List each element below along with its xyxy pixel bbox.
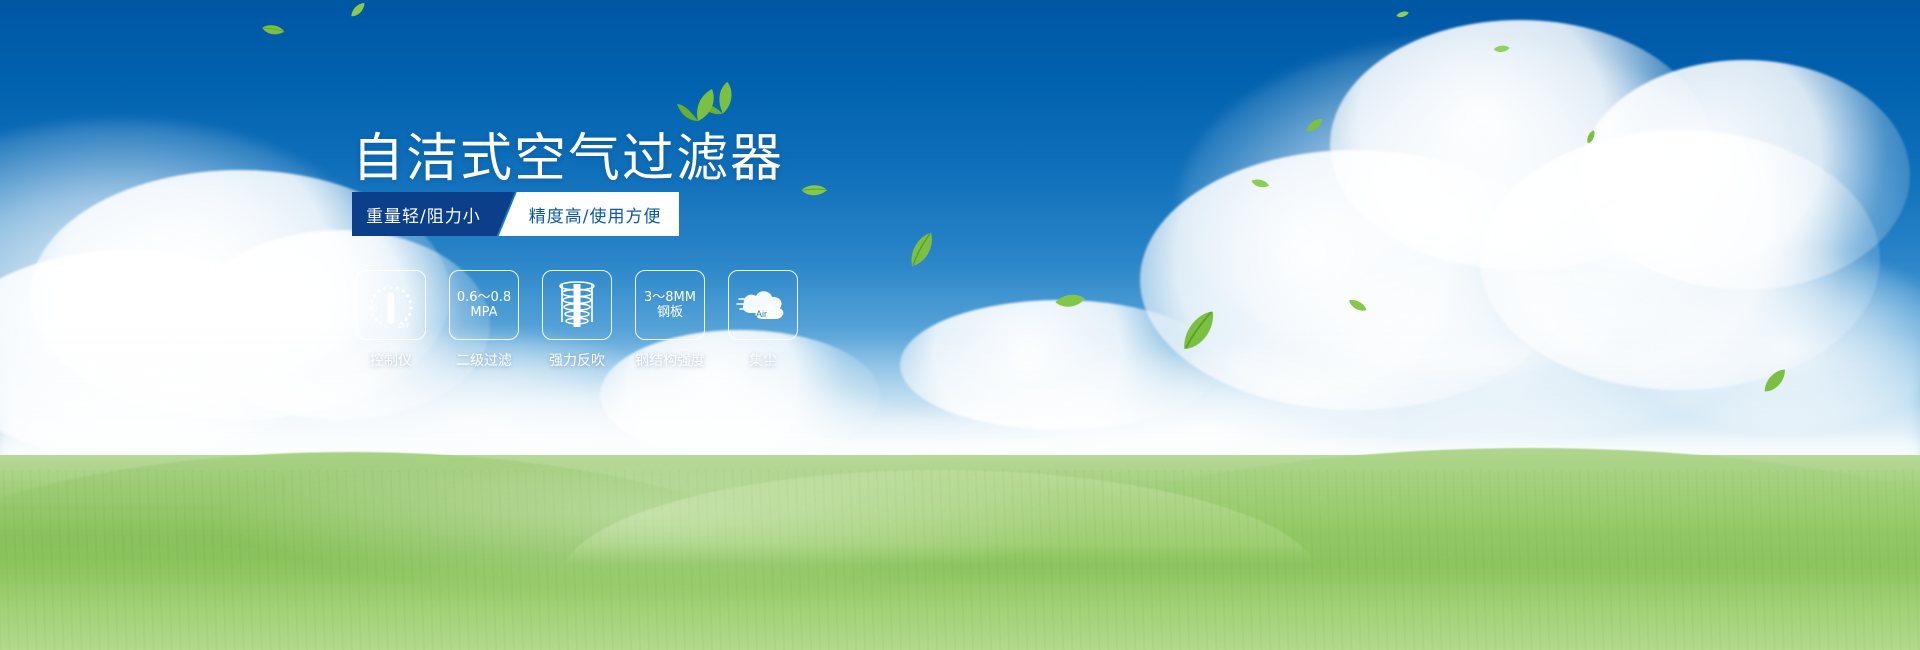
steel-line-1: 3～8MM xyxy=(644,290,696,305)
filter-cartridge-icon xyxy=(552,279,602,331)
tagline-row: 重量轻/阻力小 精度高/使用方便 xyxy=(352,192,679,236)
cloud-right-1 xyxy=(1180,40,1740,370)
feature-item[interactable]: 3～8MM 钢板 钢结构强度 xyxy=(635,270,705,370)
cloud-right-2 xyxy=(1330,20,1710,270)
leaf-icon xyxy=(1347,294,1368,317)
feature-label: 强力反吹 xyxy=(549,350,605,370)
air-label: Air xyxy=(756,309,767,319)
product-banner: 自洁式空气过滤器 重量轻/阻力小 精度高/使用方便 xyxy=(0,0,1920,650)
page-title: 自洁式空气过滤器 xyxy=(352,116,784,191)
feature-item[interactable]: 强力反吹 xyxy=(542,270,612,370)
feature-label: 集尘 xyxy=(749,350,777,370)
feature-label: 控制仪 xyxy=(370,350,412,370)
steel-line-2: 钢板 xyxy=(644,305,696,320)
leaf-icon xyxy=(1583,129,1600,145)
svg-text:NO: NO xyxy=(368,306,377,312)
feature-icon-box: 0.6～0.8 MPA xyxy=(449,270,519,340)
cloud-left-1 xyxy=(0,120,380,420)
feature-icon-box xyxy=(542,270,612,340)
feature-item[interactable]: Air 集尘 xyxy=(728,270,798,370)
cloud-right-3 xyxy=(1140,150,1570,410)
leaf-icon xyxy=(1053,288,1087,314)
control-dial-icon: NO OFF xyxy=(363,277,419,333)
feature-item[interactable]: 0.6～0.8 MPA 二级过滤 xyxy=(449,270,519,370)
tagline-secondary: 精度高/使用方便 xyxy=(499,192,680,236)
steel-plate-text-icon: 3～8MM 钢板 xyxy=(644,290,696,320)
title-leaf-icon xyxy=(676,88,720,127)
feature-icon-box: 3～8MM 钢板 xyxy=(635,270,705,340)
leaf-icon xyxy=(1492,42,1510,57)
leaf-icon xyxy=(799,178,828,203)
feature-icon-box: NO OFF xyxy=(356,270,426,340)
leaf-icon xyxy=(1303,118,1325,134)
cloud-mid-5 xyxy=(900,300,1220,430)
leaf-icon xyxy=(260,18,286,42)
leaf-icon xyxy=(1758,367,1793,395)
feature-icon-box: Air xyxy=(728,270,798,340)
leaf-icon xyxy=(1170,307,1227,355)
feature-item[interactable]: NO OFF 控制仪 xyxy=(356,270,426,370)
cloud-right-7 xyxy=(1620,250,1920,430)
grass-highlight xyxy=(200,470,1100,590)
pressure-text-icon: 0.6～0.8 MPA xyxy=(457,290,511,320)
cloud-left-3 xyxy=(0,250,320,460)
feature-label: 二级过滤 xyxy=(456,350,512,370)
pressure-line-1: 0.6～0.8 xyxy=(457,290,511,305)
feature-list: NO OFF 控制仪 0.6～0.8 MPA 二级过滤 xyxy=(356,270,798,370)
cloud-right-6 xyxy=(1230,260,1750,440)
pressure-line-2: MPA xyxy=(457,305,511,320)
svg-text:OFF: OFF xyxy=(398,324,410,330)
tagline-primary: 重量轻/阻力小 xyxy=(352,192,515,236)
cloud-right-5 xyxy=(1580,60,1910,290)
feature-label: 钢结构强度 xyxy=(635,350,705,370)
leaf-icon xyxy=(899,229,944,270)
leaf-icon xyxy=(1249,173,1270,193)
leaf-icon xyxy=(1396,10,1410,20)
cloud-right-4 xyxy=(1480,130,1880,390)
air-cloud-icon: Air xyxy=(735,283,791,327)
leaf-icon xyxy=(348,2,369,19)
